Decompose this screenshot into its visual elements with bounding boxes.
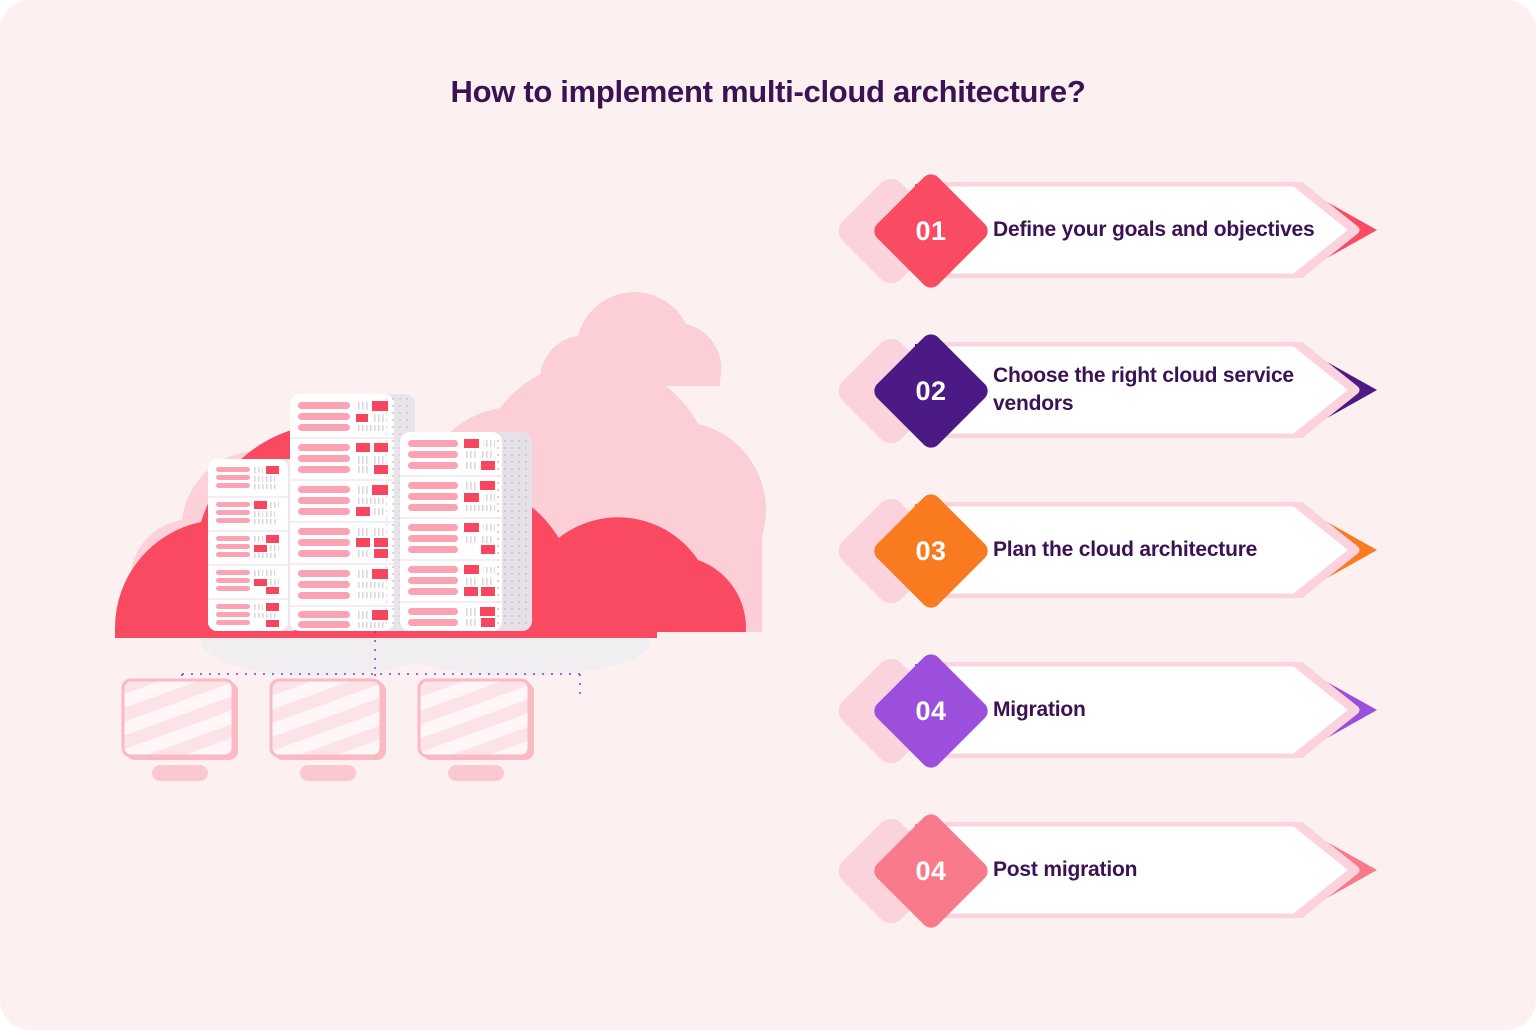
step-label: Choose the right cloud service vendors [993, 328, 1323, 452]
step-item-4[interactable]: 04 Migration [845, 648, 1385, 772]
step-number: 04 [888, 828, 974, 914]
server-rack-right [400, 432, 532, 631]
step-label: Plan the cloud architecture [993, 488, 1323, 612]
step-number: 04 [888, 668, 974, 754]
monitor-group-left [123, 680, 238, 781]
step-number: 03 [888, 508, 974, 594]
monitor-group-right [419, 680, 534, 781]
step-item-5[interactable]: 04 Post migration [845, 808, 1385, 932]
step-label: Migration [993, 648, 1323, 772]
page-title: How to implement multi-cloud architectur… [0, 74, 1536, 110]
multi-cloud-servers-illustration [90, 250, 770, 790]
monitor-group-center [271, 680, 386, 781]
server-rack-left [208, 459, 300, 631]
step-label: Post migration [993, 808, 1323, 932]
step-number: 01 [888, 188, 974, 274]
step-item-2[interactable]: 02 Choose the right cloud service vendor… [845, 328, 1385, 452]
step-item-1[interactable]: 01 Define your goals and objectives [845, 168, 1385, 292]
step-label: Define your goals and objectives [993, 168, 1323, 292]
server-rack-center [290, 394, 415, 631]
steps-list: 01 Define your goals and objectives 02 C… [845, 168, 1405, 958]
step-item-3[interactable]: 03 Plan the cloud architecture [845, 488, 1385, 612]
step-number: 02 [888, 348, 974, 434]
infographic-canvas: How to implement multi-cloud architectur… [0, 0, 1536, 1030]
